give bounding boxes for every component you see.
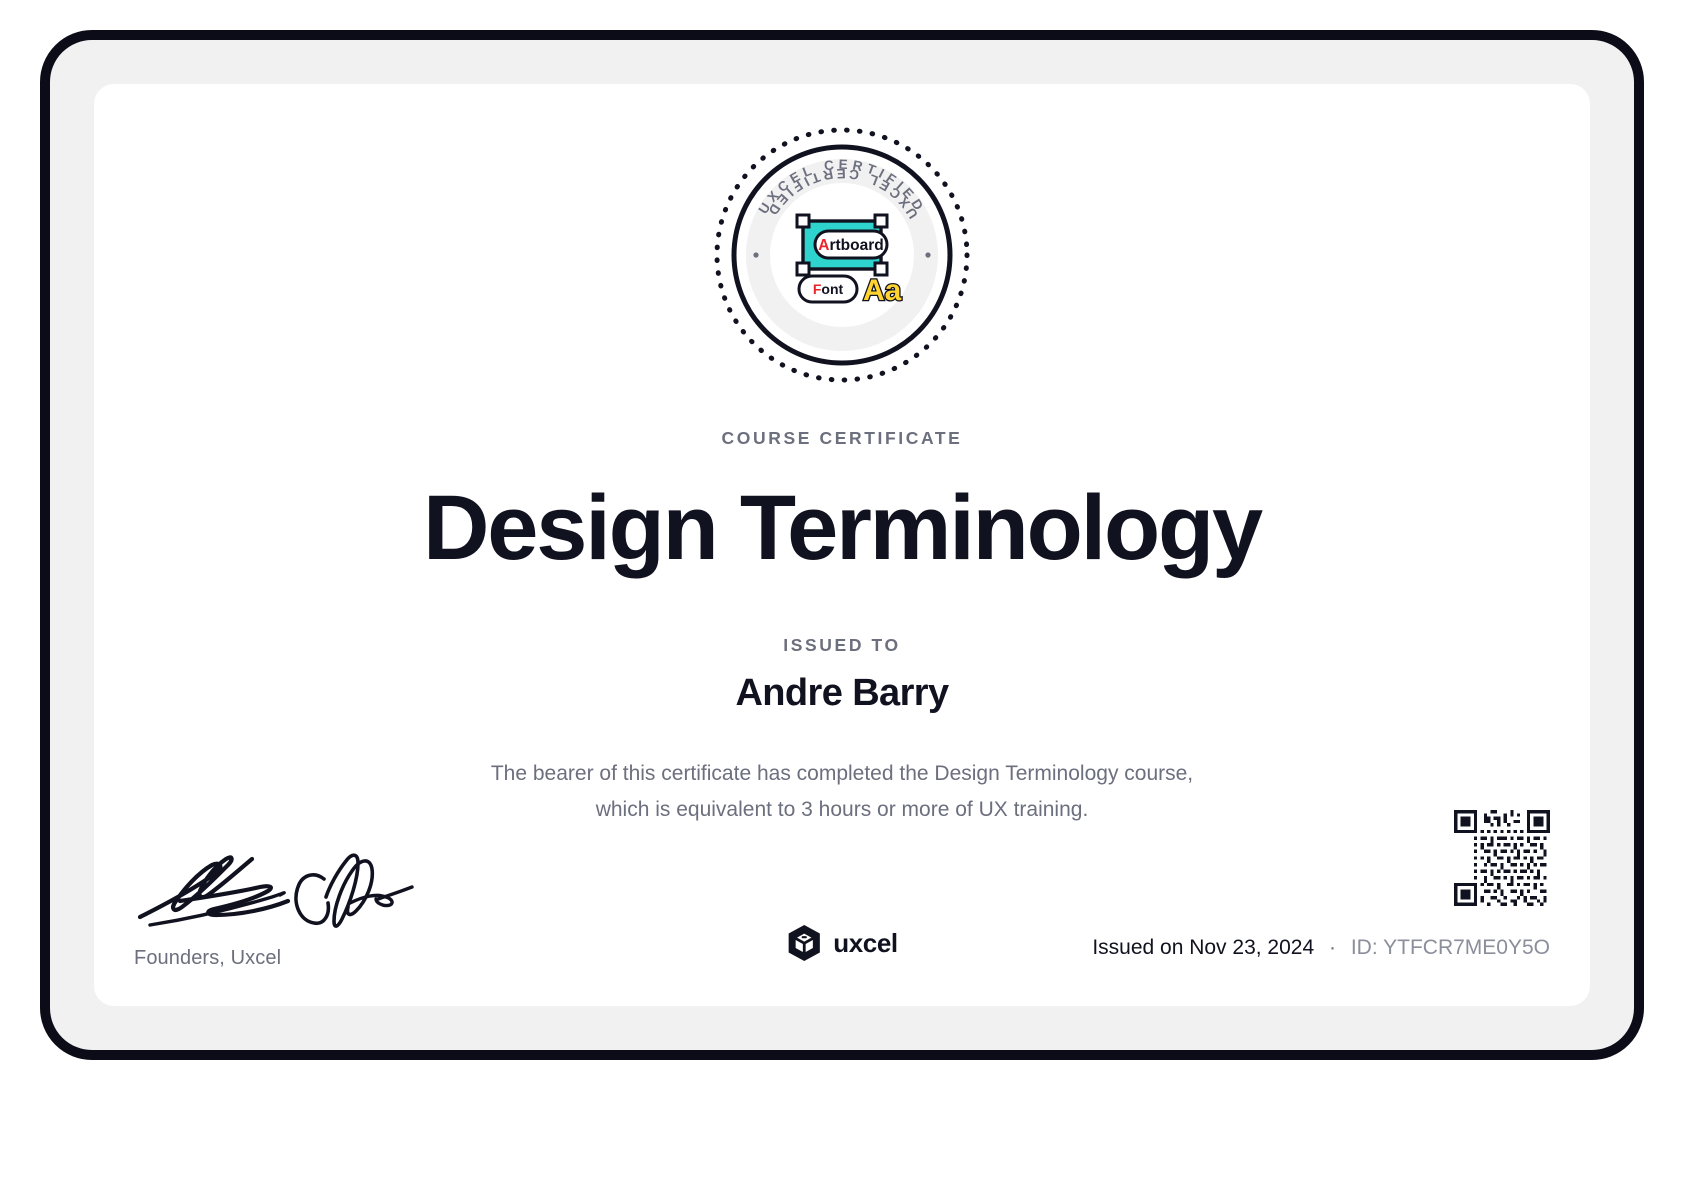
issue-meta: Issued on Nov 23, 2024 · ID: YTFCR7ME0Y5… (1092, 936, 1550, 960)
type-sample-glyph: Aa (863, 274, 902, 307)
founders-label: Founders, Uxcel (134, 947, 464, 970)
certificate-description: The bearer of this certificate has compl… (392, 756, 1292, 828)
artboard-pill-label: Artboard (818, 237, 883, 254)
course-title: Design Terminology (94, 474, 1590, 582)
font-rest: ont (821, 281, 843, 297)
description-line-1: The bearer of this certificate has compl… (392, 756, 1292, 792)
certificate-qr-code[interactable] (1454, 810, 1550, 906)
certificate-frame: UXCEL CERTIFIED UXCEL CERTIFIED (40, 30, 1644, 1060)
signature-block: Founders, Uxcel (134, 845, 464, 970)
artboard-initial: A (818, 237, 829, 254)
issued-to-label: ISSUED TO (94, 635, 1590, 656)
hexagon-cube-icon (786, 924, 822, 962)
brand-name: uxcel (833, 928, 898, 959)
uxcel-certified-seal: UXCEL CERTIFIED UXCEL CERTIFIED (711, 124, 973, 386)
handle-top-right (875, 215, 887, 227)
certificate-id: ID: YTFCR7ME0Y5O (1351, 936, 1550, 959)
artboard-rest: rtboard (829, 237, 883, 254)
seal-bullet-right (925, 252, 930, 257)
handle-bottom-left (797, 263, 809, 275)
course-certificate-kicker: COURSE CERTIFICATE (94, 428, 1590, 449)
issued-on-date: Issued on Nov 23, 2024 (1092, 936, 1314, 959)
recipient-name: Andre Barry (94, 666, 1590, 720)
description-line-2: which is equivalent to 3 hours or more o… (392, 792, 1292, 828)
seal-bullet-left (753, 252, 758, 257)
handle-top-left (797, 215, 809, 227)
uxcel-brand-logo: uxcel (786, 924, 898, 962)
certificate-card: UXCEL CERTIFIED UXCEL CERTIFIED (94, 84, 1590, 1006)
meta-separator: · (1320, 936, 1345, 959)
font-pill-label: Font (813, 281, 844, 297)
founders-signatures-image (128, 845, 418, 937)
